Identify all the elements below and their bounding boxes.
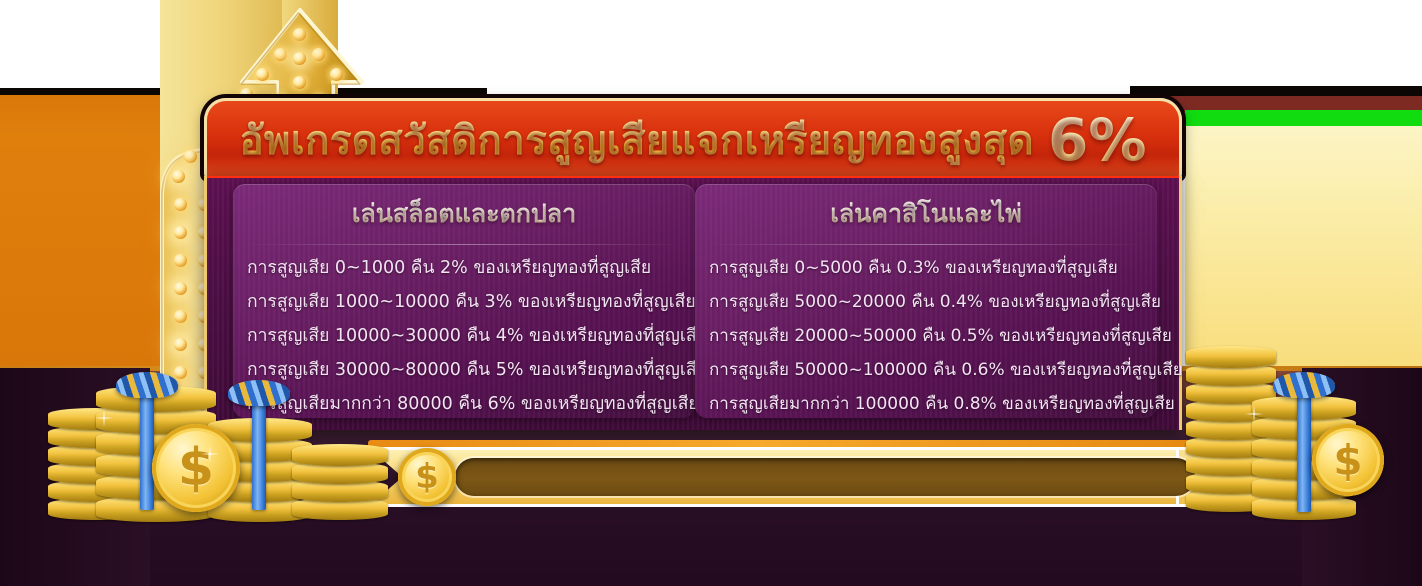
gift-bow-left-2 (228, 380, 290, 406)
list-item: การสูญเสีย 30000~80000 คืน 5% ของเหรียญท… (247, 353, 681, 387)
panel-divider (709, 244, 1143, 245)
coin-stack-left-d (292, 428, 388, 520)
content-container: เล่นสล็อตและตกปลา การสูญเสีย 0~1000 คืน … (204, 176, 1182, 430)
gift-bow-left (116, 372, 178, 398)
list-item: การสูญเสีย 10000~30000 คืน 4% ของเหรียญท… (247, 319, 681, 353)
gold-bar-slot[interactable] (455, 458, 1195, 496)
gift-bow-right (1273, 372, 1335, 398)
panel-row-list: การสูญเสีย 0~1000 คืน 2% ของเหรียญทองที่… (247, 251, 681, 421)
background-green-stripe-right (1185, 110, 1422, 126)
list-item: การสูญเสียมากกว่า 100000 คืน 0.8% ของเหร… (709, 387, 1143, 421)
dollar-coin-icon-bar: $ (398, 448, 456, 506)
gift-ribbon-left (140, 392, 154, 510)
panel-divider (247, 244, 681, 245)
list-item: การสูญเสียมากกว่า 80000 คืน 6% ของเหรียญ… (247, 387, 681, 421)
background-white-block-top-left (0, 0, 165, 90)
panel-row-list: การสูญเสีย 0~5000 คืน 0.3% ของเหรียญทองท… (709, 251, 1143, 421)
panel-slots-fishing: เล่นสล็อตและตกปลา การสูญเสีย 0~1000 คืน … (233, 184, 695, 418)
panel-title: เล่นคาสิโนและไพ่ (709, 194, 1143, 244)
list-item: การสูญเสีย 20000~50000 คืน 0.5% ของเหรีย… (709, 319, 1143, 353)
dollar-coin-icon-left: $ (152, 424, 240, 512)
panel-casino-cards: เล่นคาสิโนและไพ่ การสูญเสีย 0~5000 คืน 0… (695, 184, 1157, 418)
list-item: การสูญเสีย 5000~20000 คืน 0.4% ของเหรียญ… (709, 285, 1143, 319)
headline-plaque: อัพเกรดสวัสดิการสูญเสียแจกเหรียญทองสูงสุ… (204, 98, 1182, 178)
background-cream-panel-right (1185, 96, 1422, 368)
panel-title: เล่นสล็อตและตกปลา (247, 194, 681, 244)
list-item: การสูญเสีย 1000~10000 คืน 3% ของเหรียญทอ… (247, 285, 681, 319)
gift-ribbon-right (1297, 392, 1311, 512)
list-item: การสูญเสีย 50000~100000 คืน 0.6% ของเหรี… (709, 353, 1143, 387)
promo-banner: อัพเกรดสวัสดิการสูญเสียแจกเหรียญทองสูงสุ… (0, 0, 1422, 586)
list-item: การสูญเสีย 0~1000 คืน 2% ของเหรียญทองที่… (247, 251, 681, 285)
headline-percent: 6% (1048, 106, 1146, 174)
dollar-coin-icon-right: $ (1312, 424, 1384, 496)
background-black-stripe-right (1130, 86, 1422, 96)
gift-ribbon-left-2 (252, 400, 266, 510)
list-item: การสูญเสีย 0~5000 คืน 0.3% ของเหรียญทองท… (709, 251, 1143, 285)
headline-text: อัพเกรดสวัสดิการสูญเสียแจกเหรียญทองสูงสุ… (240, 108, 1034, 172)
